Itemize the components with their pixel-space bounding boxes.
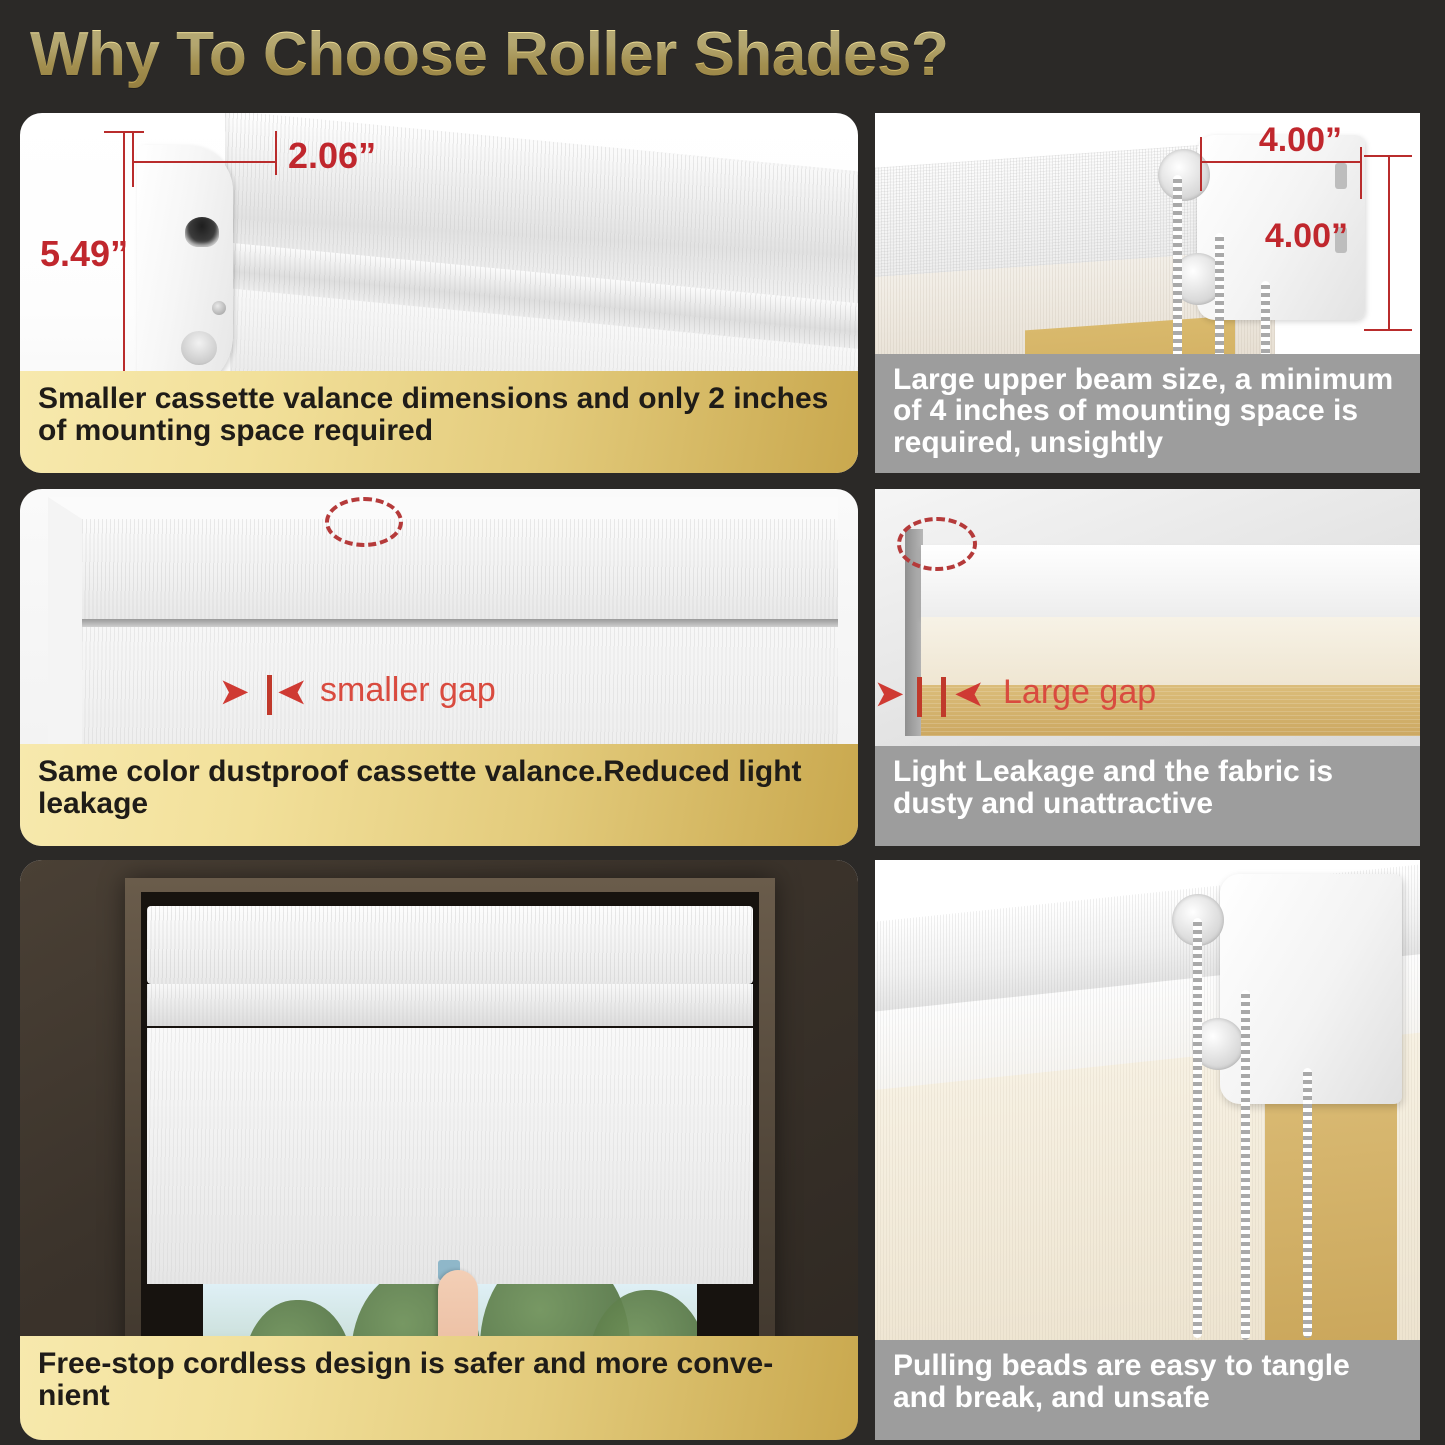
cream-fabric-band [921,617,1420,685]
roller-end-upper [1158,149,1210,201]
arrow-right-icon: ➤ [875,677,904,711]
width-dim-line [132,161,277,163]
comparison-grid: 2.06” 5.49” Smaller cassette valance dim… [0,0,1445,1445]
bracket-width-label: 4.00” [1259,121,1342,160]
panel-1-caption: Smaller cassette valance dimensions and … [20,371,858,473]
gap-marker-b [941,677,946,717]
valance-seam [82,619,838,627]
height-dim-label: 5.49” [40,233,128,275]
gap-marker [267,675,272,715]
large-gap-label: Large gap [1003,673,1156,712]
highlight-ellipse-icon [897,517,977,571]
panel-2-caption: Large upper beam size, a minimum of 4 in… [875,354,1420,473]
arrow-left-icon: ➤ [955,677,984,711]
bracket-width-left-tick [1200,137,1202,191]
valance-endcap [137,145,233,393]
arrow-left-icon: ➤ [278,675,307,709]
arrow-right-icon: ➤ [220,675,249,709]
gap-marker-a [917,677,922,717]
bracket-height-bottom-tick [1364,329,1412,331]
panel-3-caption: Same color dustproof cassette valance.Re… [20,744,858,846]
bead-chain-right [1303,1068,1312,1338]
width-dim-right-tick [275,131,277,175]
bracket-height-label: 4.00” [1265,217,1348,256]
panel-4-caption: Light Leakage and the fabric is dusty an… [875,746,1420,846]
panel-large-upper-beam: 4.00” 4.00” Large upper beam size, a min… [875,113,1420,473]
smaller-gap-label: smaller gap [320,671,496,710]
endcap-screw [212,301,226,315]
roller-tube [921,545,1420,617]
panel-light-leakage: ➤ ➤ Large gap Light Leakage and the fabr… [875,489,1420,846]
panel-5-caption: Free-stop cordless design is safer and m… [20,1336,858,1440]
width-dim-left-tick [132,131,134,187]
panel-6-caption: Pulling beads are easy to tangle and bre… [875,1340,1420,1440]
bracket-width-right-tick [1360,147,1362,199]
bracket-slot-upper [1335,163,1347,189]
bracket-height-line [1388,155,1390,331]
panel-smaller-cassette: 2.06” 5.49” Smaller cassette valance dim… [20,113,858,473]
bracket-width-line [1202,161,1362,163]
bead-chain-left [1193,918,1202,1338]
panel-cordless-design: Free-stop cordless design is safer and m… [20,860,858,1440]
panel-dustproof-valance: ➤ ➤ smaller gap Same color dustproof cas… [20,489,858,846]
cassette-valance-face [82,519,838,619]
roller-shade-fabric [147,1028,753,1284]
highlight-ellipse-icon [325,497,403,547]
valance-lower-lip [147,984,753,1026]
cassette-valance [147,906,753,984]
panel-pulling-beads: Pulling beads are easy to tangle and bre… [875,860,1420,1440]
infographic-page: Why To Choose Roller Shades? 2.06” 5.49 [0,0,1445,1445]
gold-dusty-fabric [921,685,1420,736]
width-dim-label: 2.06” [288,135,376,177]
bead-chain-middle [1241,990,1250,1340]
